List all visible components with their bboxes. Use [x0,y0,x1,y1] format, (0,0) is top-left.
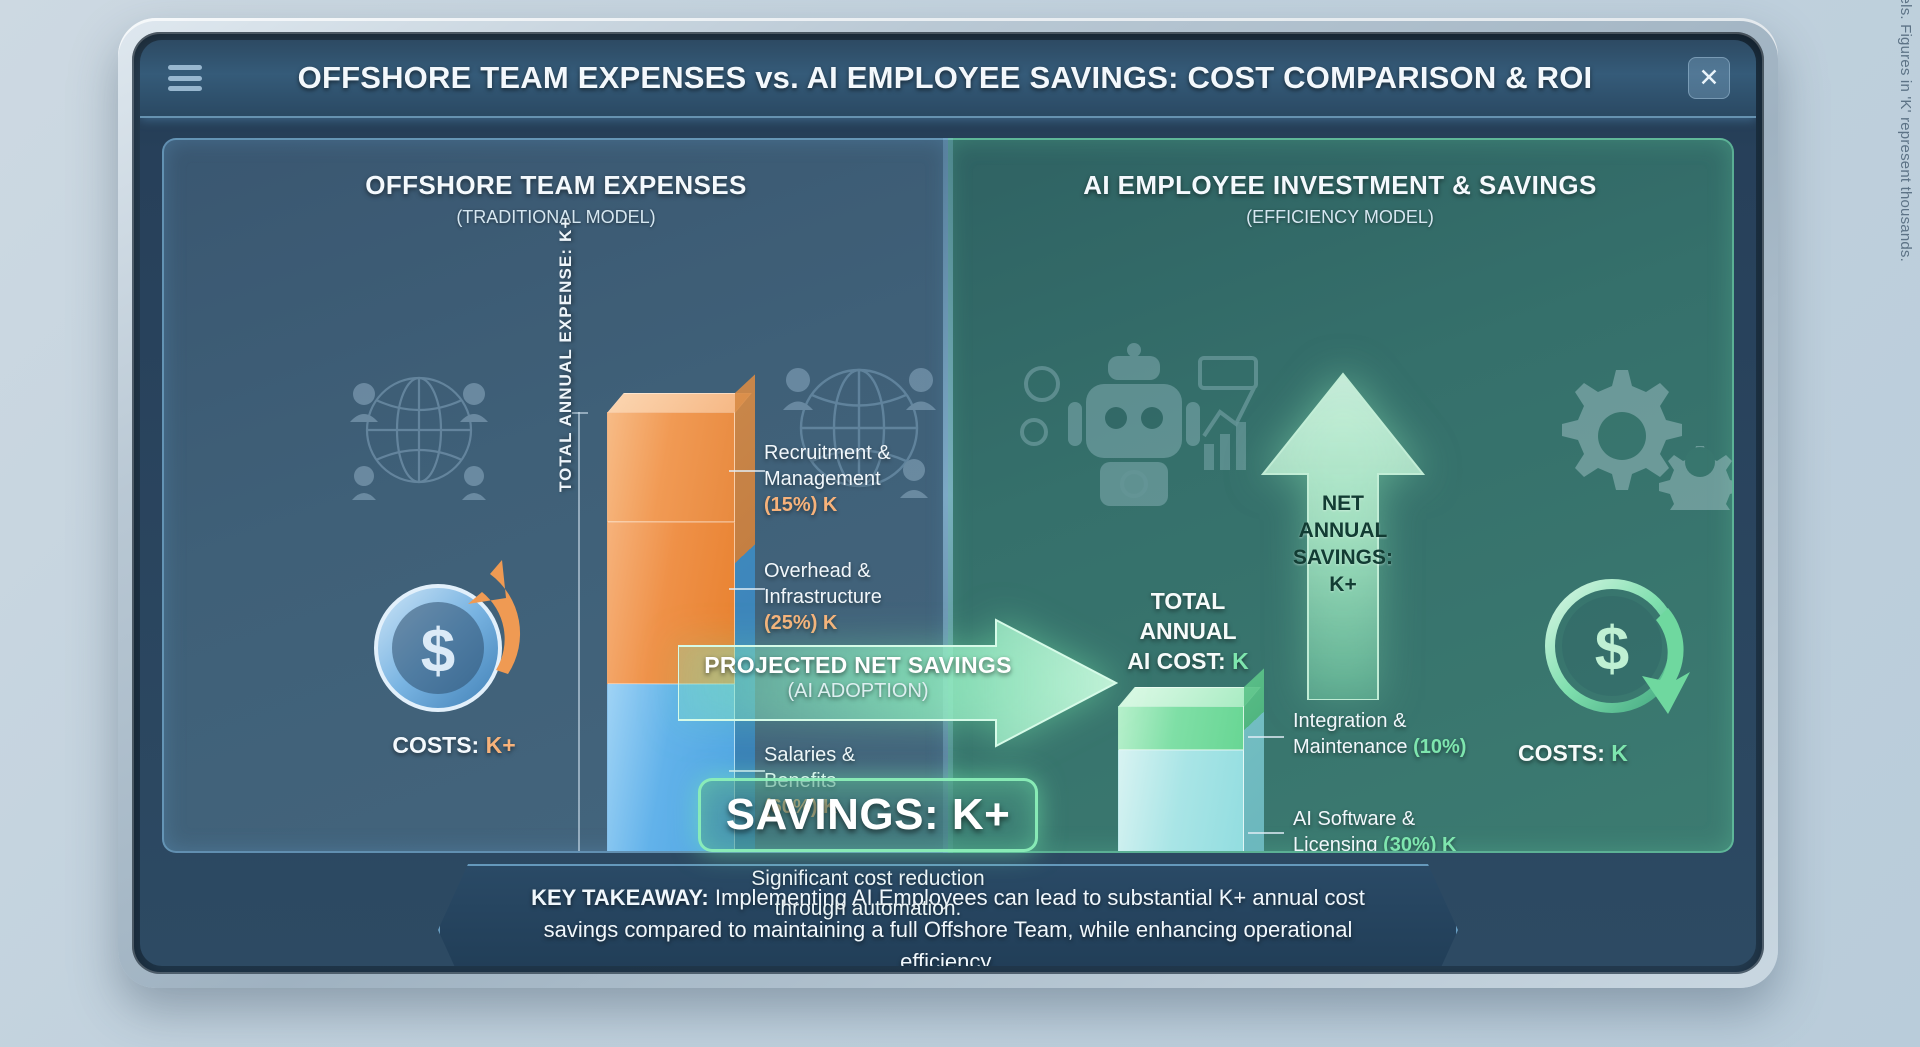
hamburger-bar [168,76,202,81]
callout-unit: K [823,796,837,818]
key-takeaway-banner: KEY TAKEAWAY: Implementing AI Employees … [438,864,1458,966]
bar-segment-overhead[interactable] [607,522,735,684]
ai-total-line3: AI COST: [1127,648,1225,674]
callout-line2: Management [764,468,881,490]
ai-total-line2: ANNUAL [1139,618,1236,644]
callout-line2: Benefits [764,770,836,792]
offshore-stacked-bar[interactable] [607,412,735,853]
ai-bar-chart: NET ANNUAL SAVINGS: K+ TOTAL ANNUAL AI C… [948,140,1732,851]
callout-line2: Maintenance [1293,736,1408,758]
ai-total-cost-label: TOTAL ANNUAL AI COST: K [1088,586,1288,676]
app-window: OFFSHORE TEAM EXPENSES vs. AI EMPLOYEE S… [140,40,1756,966]
bar-segment-salaries[interactable] [607,684,735,853]
key-takeaway-label: KEY TAKEAWAY: [531,885,709,910]
offshore-axis-line [578,412,580,853]
bar-top-face [1118,687,1261,707]
callout-unit: K [823,494,837,516]
bar-segment-recruitment[interactable] [607,412,735,522]
ai-stacked-bar[interactable] [1118,706,1244,853]
bar-top-face [607,393,752,413]
offshore-bar-chart: TOTAL ANNUAL EXPENSE: K+ [164,140,948,851]
bar-segment-integration[interactable] [1118,706,1244,750]
bar-side-face [735,374,755,853]
panel-divider [943,138,953,853]
panel-ai-investment: AI EMPLOYEE INVESTMENT & SAVINGS (EFFICI… [948,138,1734,853]
net-savings-line3: SAVINGS: [1293,546,1393,569]
callout-line2: Licensing [1293,834,1378,853]
leader-line [729,588,765,590]
device-bezel: OFFSHORE TEAM EXPENSES vs. AI EMPLOYEE S… [132,32,1764,974]
callout-line1: Overhead & [764,560,871,582]
ai-costs-text: COSTS: [1518,740,1605,766]
ai-costs-value: K [1611,740,1628,766]
offshore-axis-label: TOTAL ANNUAL EXPENSE: K+ [556,218,576,492]
device-frame: OFFSHORE TEAM EXPENSES vs. AI EMPLOYEE S… [118,18,1778,988]
callout-pct: (10%) [1413,736,1466,758]
bar-side-face [1244,668,1264,853]
callout-pct: (60%) [764,796,817,818]
callout-pct: (15%) [764,494,817,516]
net-savings-line2: ANNUAL [1299,519,1388,542]
net-savings-line1: NET [1322,492,1364,515]
callout-pct: (30%) [1383,834,1436,853]
comparison-panels: OFFSHORE TEAM EXPENSES (TRADITIONAL MODE… [162,138,1734,853]
net-savings-label: NET ANNUAL SAVINGS: K+ [1258,490,1428,598]
callout-line1: Integration & [1293,710,1406,732]
callout-salaries: Salaries & Benefits (60%) K [764,742,948,820]
close-icon[interactable]: ✕ [1688,57,1730,99]
callout-unit: K [823,612,837,634]
leader-line [729,770,765,772]
bar-segment-licensing[interactable] [1118,750,1244,853]
side-note: Data based on average market analysis an… [1897,0,1914,262]
ai-costs-label: COSTS: K [1518,740,1718,767]
callout-line1: AI Software & [1293,808,1415,830]
callout-recruitment: Recruitment & Management (15%) K [764,440,948,518]
callout-line1: Recruitment & [764,442,891,464]
callout-line2: Infrastructure [764,586,882,608]
title-bar: OFFSHORE TEAM EXPENSES vs. AI EMPLOYEE S… [140,40,1756,118]
callout-pct: (25%) [764,612,817,634]
content-area: OFFSHORE TEAM EXPENSES (TRADITIONAL MODE… [140,118,1756,966]
callout-line1: Salaries & [764,744,855,766]
panel-offshore-expenses: OFFSHORE TEAM EXPENSES (TRADITIONAL MODE… [162,138,948,853]
leader-line [729,470,765,472]
ai-total-value: K [1232,648,1249,674]
callout-unit: K [1442,834,1456,853]
hamburger-bar [168,65,202,70]
hamburger-bar [168,86,202,91]
ai-total-line1: TOTAL [1151,588,1226,614]
net-savings-line4: K+ [1329,573,1356,596]
callout-licensing: AI Software & Licensing (30%) K [1293,806,1563,853]
page-title: OFFSHORE TEAM EXPENSES vs. AI EMPLOYEE S… [202,60,1688,96]
leader-line [1248,832,1284,834]
leader-line [1248,736,1284,738]
callout-overhead: Overhead & Infrastructure (25%) K [764,558,948,636]
hamburger-icon[interactable] [168,65,202,91]
